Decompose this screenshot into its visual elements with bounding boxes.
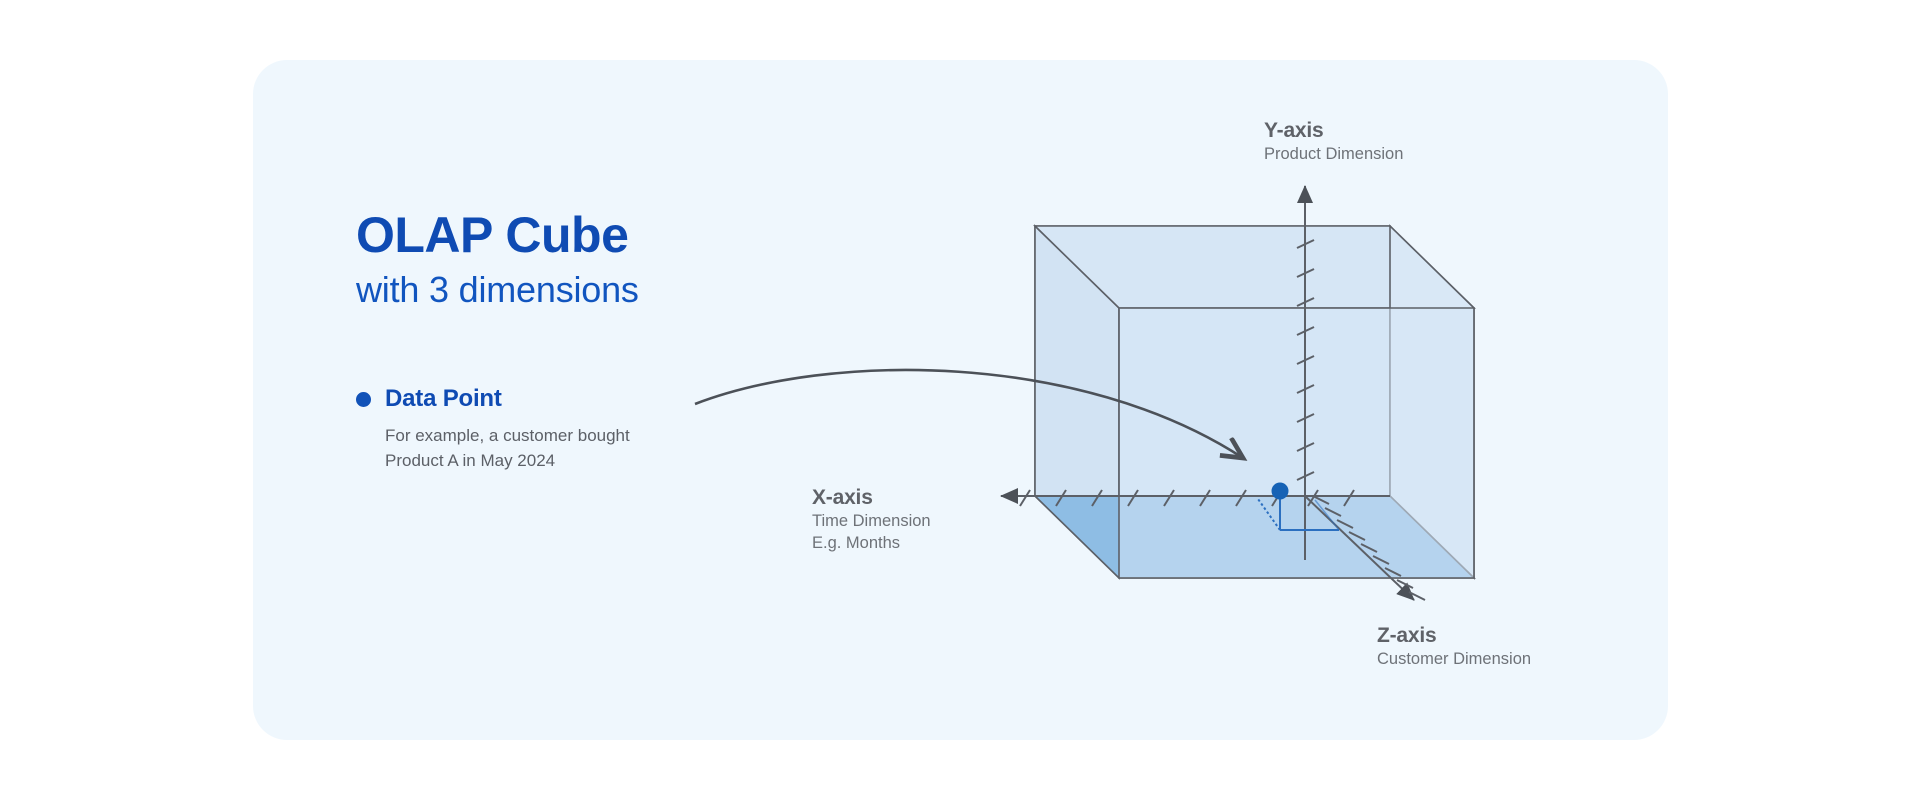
legend-description: For example, a customer bought Product A… [385,424,776,473]
data-point-marker[interactable] [1272,483,1289,500]
x-axis-desc-line-2: E.g. Months [812,533,931,554]
page-title: OLAP Cube [356,208,826,262]
legend-row: Data Point [356,385,776,413]
legend-description-line-2: Product A in May 2024 [385,449,776,474]
z-axis-label: Z-axis Customer Dimension [1377,623,1531,671]
olap-cube-illustration [0,0,1920,800]
x-axis-desc-line-1: Time Dimension [812,511,931,532]
legend-data-point: Data Point For example, a customer bough… [356,385,776,473]
legend-title: Data Point [385,385,502,413]
x-axis-name: X-axis [812,485,931,511]
legend-description-line-1: For example, a customer bought [385,424,776,449]
page-subtitle: with 3 dimensions [356,268,826,311]
cube-front-face [1119,308,1474,578]
diagram-canvas: OLAP Cube with 3 dimensions Data Point F… [0,0,1920,800]
heading-block: OLAP Cube with 3 dimensions [356,208,826,311]
y-axis-desc: Product Dimension [1264,144,1403,165]
x-axis-label: X-axis Time Dimension E.g. Months [812,485,931,554]
y-axis-name: Y-axis [1264,118,1403,144]
y-axis-label: Y-axis Product Dimension [1264,118,1403,166]
bullet-dot-icon [356,392,371,407]
z-axis-name: Z-axis [1377,623,1531,649]
z-axis-desc: Customer Dimension [1377,649,1531,670]
